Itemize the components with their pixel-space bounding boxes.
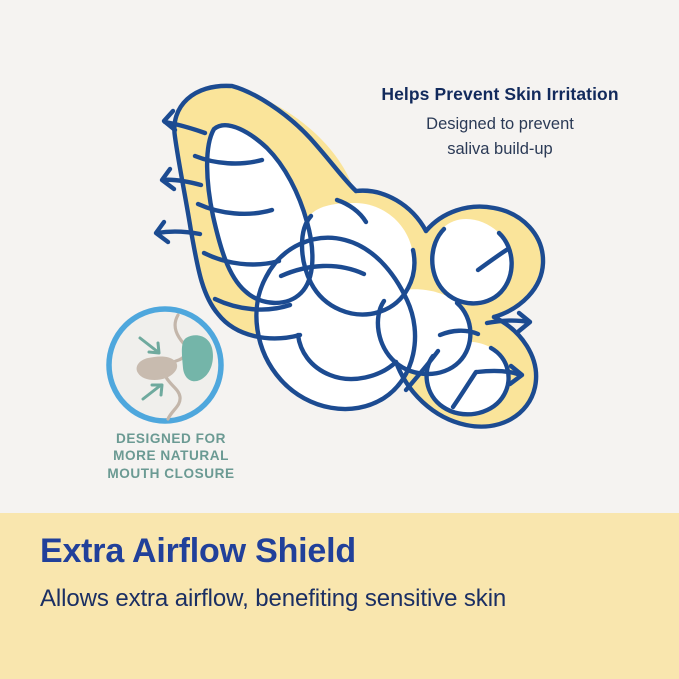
banner-subheading: Allows extra airflow, benefiting sensiti…	[40, 586, 506, 612]
nipple-shape	[207, 125, 511, 413]
callout-line-1: Designed to prevent	[354, 112, 646, 137]
callout-title: Helps Prevent Skin Irritation	[354, 84, 646, 106]
callout-line-2: saliva build-up	[354, 137, 646, 162]
inset-caption-line-2: MORE NATURAL	[66, 447, 276, 464]
mouth-closure-inset	[109, 309, 221, 421]
inset-caption: DESIGNED FOR MORE NATURAL MOUTH CLOSURE	[66, 430, 276, 482]
callout-text-block: Helps Prevent Skin Irritation Designed t…	[354, 84, 646, 162]
inset-caption-line-1: DESIGNED FOR	[66, 430, 276, 447]
inset-caption-line-3: MOUTH CLOSURE	[66, 465, 276, 482]
screenshot-root: Helps Prevent Skin Irritation Designed t…	[0, 0, 679, 679]
illustration-panel: Helps Prevent Skin Irritation Designed t…	[0, 0, 679, 513]
banner-heading: Extra Airflow Shield	[40, 534, 356, 568]
